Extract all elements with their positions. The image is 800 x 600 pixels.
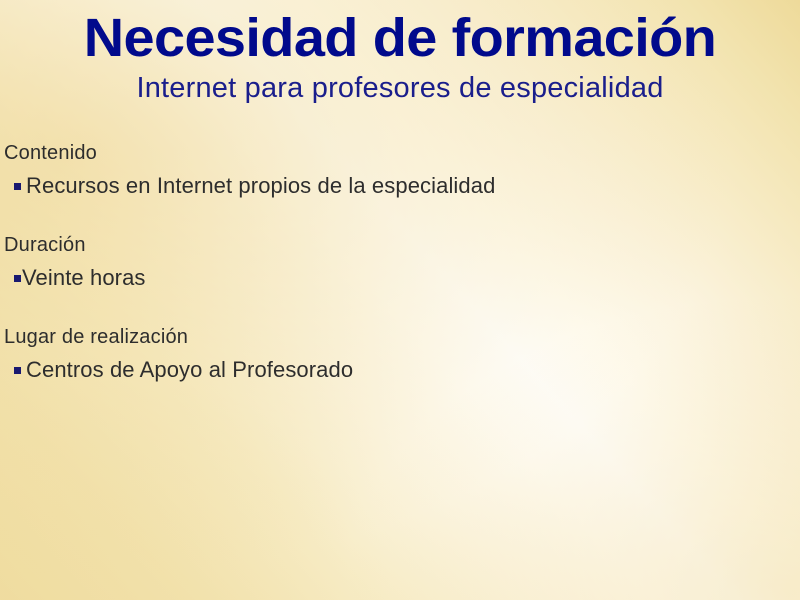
list-item-label: Centros de Apoyo al Profesorado	[26, 356, 353, 383]
list-item: Centros de Apoyo al Profesorado	[4, 356, 794, 383]
section-heading: Contenido	[4, 140, 794, 166]
slide-body: Contenido Recursos en Internet propios d…	[4, 140, 794, 383]
slide-content: Necesidad de formación Internet para pro…	[0, 0, 800, 600]
square-bullet-icon	[14, 367, 21, 374]
square-bullet-icon	[14, 183, 21, 190]
square-bullet-icon	[14, 275, 21, 282]
section-heading: Duración	[4, 232, 794, 258]
slide-title: Necesidad de formación	[0, 8, 800, 68]
section-lugar-de-realizacion: Lugar de realización Centros de Apoyo al…	[4, 324, 794, 383]
section-contenido: Contenido Recursos en Internet propios d…	[4, 140, 794, 199]
slide-subtitle: Internet para profesores de especialidad	[0, 71, 800, 105]
section-heading: Lugar de realización	[4, 324, 794, 350]
list-item: Veinte horas	[4, 264, 794, 291]
list-item: Recursos en Internet propios de la espec…	[4, 172, 794, 199]
list-item-label: Veinte horas	[22, 264, 146, 291]
title-block: Necesidad de formación Internet para pro…	[0, 8, 800, 105]
section-duracion: Duración Veinte horas	[4, 232, 794, 291]
presentation-slide: Necesidad de formación Internet para pro…	[0, 0, 800, 600]
list-item-label: Recursos en Internet propios de la espec…	[26, 172, 495, 199]
